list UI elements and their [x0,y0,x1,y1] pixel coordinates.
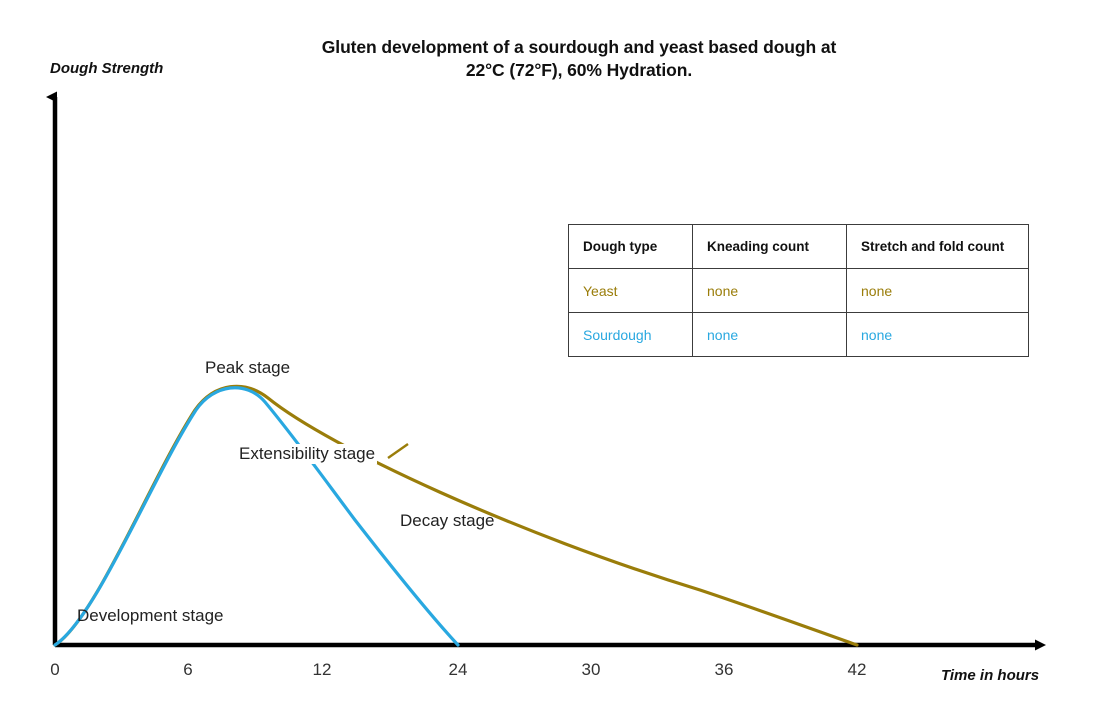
table-header-stretch-fold-count: Stretch and fold count [847,225,1029,269]
table-row: Sourdough none none [569,313,1029,357]
table-header-kneading-count: Kneading count [693,225,847,269]
cell-stretch-fold-count-sourdough: none [847,313,1029,357]
x-tick-label-0: 0 [50,660,59,680]
annotation-development-stage: Development stage [77,606,223,626]
x-tick-label-42: 42 [848,660,867,680]
cell-dough-type-yeast: Yeast [569,269,693,313]
annotation-peak-stage: Peak stage [205,358,290,378]
annotation-extensibility-stage: Extensibility stage [237,444,377,464]
x-tick-label-24: 24 [449,660,468,680]
x-tick-label-36: 36 [715,660,734,680]
extensibility-leader-line [388,444,408,458]
x-tick-label-30: 30 [582,660,601,680]
cell-kneading-count-sourdough: none [693,313,847,357]
table-row: Yeast none none [569,269,1029,313]
gluten-development-chart: Gluten development of a sourdough and ye… [0,0,1108,706]
cell-kneading-count-yeast: none [693,269,847,313]
cell-dough-type-sourdough: Sourdough [569,313,693,357]
dough-comparison-table: Dough type Kneading count Stretch and fo… [568,224,1029,357]
table-header-row: Dough type Kneading count Stretch and fo… [569,225,1029,269]
x-tick-label-6: 6 [183,660,192,680]
annotation-decay-stage: Decay stage [400,511,495,531]
table-header-dough-type: Dough type [569,225,693,269]
x-tick-label-12: 12 [313,660,332,680]
cell-stretch-fold-count-yeast: none [847,269,1029,313]
